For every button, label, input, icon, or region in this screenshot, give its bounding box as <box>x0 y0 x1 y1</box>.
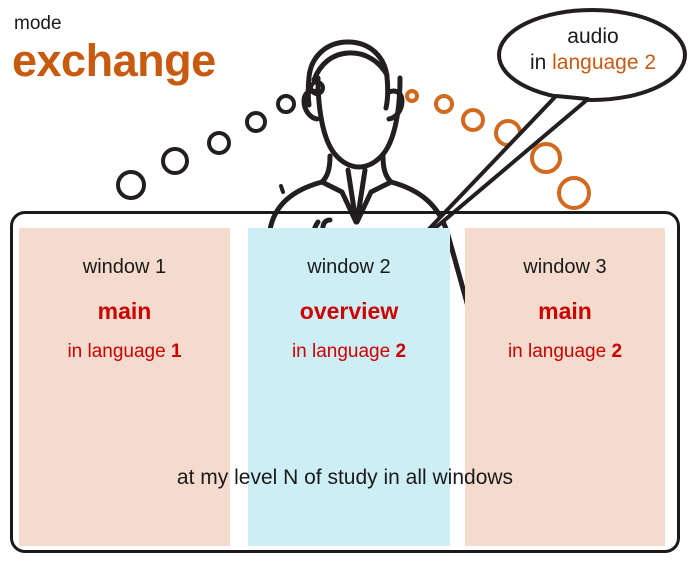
footer-note: at my level N of study in all windows <box>10 466 680 490</box>
window-panel-3-language: in language 2 <box>465 341 665 363</box>
window-panel-2-language-prefix: in language <box>292 341 396 362</box>
window-panel-1-kind: main <box>19 298 230 325</box>
speech-bubble-text: audio in language 2 <box>498 24 688 77</box>
window-panel-2-title: window 2 <box>248 256 450 279</box>
window-panel-3-kind: main <box>465 298 665 325</box>
speech-bubble-line-2-highlight: language 2 <box>552 51 656 74</box>
window-panel-2-kind: overview <box>248 298 450 325</box>
black-bubble-trail-icon <box>118 82 323 198</box>
window-panel-1-language-number: 1 <box>171 341 182 362</box>
window-panel-1-language-prefix: in language <box>67 341 171 362</box>
speech-bubble-line-2-prefix: in <box>530 51 552 74</box>
speech-bubble-line-2: in language 2 <box>498 50 688 76</box>
window-panel-2[interactable]: window 2 overview in language 2 <box>248 228 450 546</box>
diagram-canvas: mode exchange <box>0 0 694 564</box>
window-panel-2-language-number: 2 <box>395 341 406 362</box>
window-panel-2-language: in language 2 <box>248 341 450 363</box>
window-panel-3-language-prefix: in language <box>508 341 612 362</box>
window-panel-3[interactable]: window 3 main in language 2 <box>465 228 665 546</box>
window-panel-1-title: window 1 <box>19 256 230 279</box>
window-panel-1-language: in language 1 <box>19 341 230 363</box>
window-panel-3-title: window 3 <box>465 256 665 279</box>
window-panel-3-language-number: 2 <box>611 341 622 362</box>
speech-bubble-line-1: audio <box>498 24 688 50</box>
window-panel-1[interactable]: window 1 main in language 1 <box>19 228 230 546</box>
